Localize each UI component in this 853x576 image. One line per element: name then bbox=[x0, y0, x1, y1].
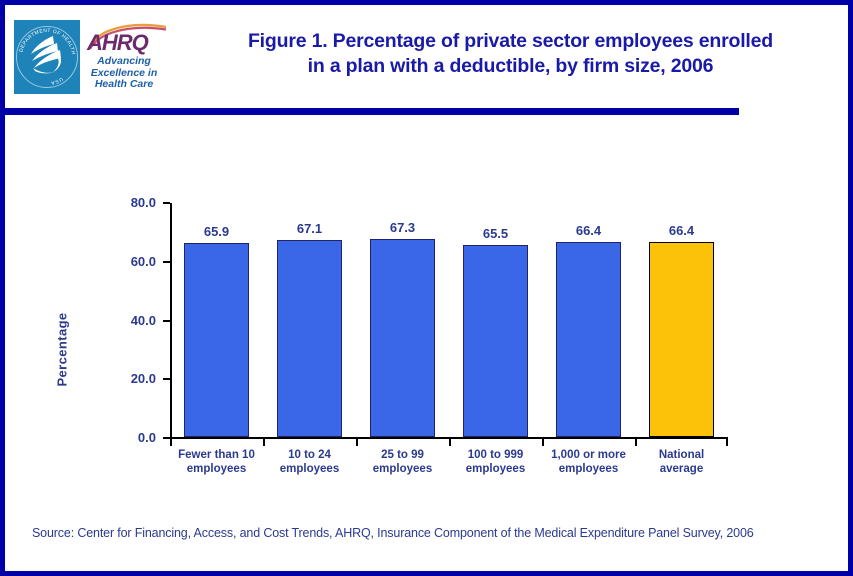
y-axis-title-text: Percentage bbox=[55, 312, 70, 386]
y-axis-tick bbox=[163, 320, 170, 322]
y-axis-tick-label: 40.0 bbox=[96, 313, 156, 328]
x-axis-category-line: employees bbox=[449, 462, 542, 476]
y-axis-tick bbox=[163, 378, 170, 380]
x-axis-tick bbox=[726, 439, 728, 446]
x-axis-tick bbox=[356, 439, 358, 446]
x-axis-category-line: average bbox=[635, 462, 728, 476]
bar-column[interactable]: 67.1 bbox=[277, 240, 342, 437]
bar[interactable] bbox=[277, 240, 342, 437]
bar-column[interactable]: 67.3 bbox=[370, 239, 435, 437]
y-axis-tick-label: 60.0 bbox=[96, 254, 156, 269]
y-axis-tick-label: 20.0 bbox=[96, 371, 156, 386]
y-axis-tick bbox=[163, 437, 170, 439]
bar[interactable] bbox=[184, 243, 249, 437]
x-axis-category-line: 100 to 999 bbox=[449, 448, 542, 462]
plot-area: 0.020.040.060.080.0 65.967.167.365.566.4… bbox=[170, 203, 728, 438]
x-axis-category-line: 25 to 99 bbox=[356, 448, 449, 462]
ahrq-tagline-line3: Health Care bbox=[80, 79, 168, 91]
x-axis-category-line: Fewer than 10 bbox=[170, 448, 263, 462]
page-title: Figure 1. Percentage of private sector e… bbox=[183, 29, 838, 79]
bar-column[interactable]: 65.9 bbox=[184, 243, 249, 437]
x-axis-category-line: National bbox=[635, 448, 728, 462]
bar-value-label: 66.4 bbox=[669, 223, 694, 238]
ahrq-letters-icon: AHRQ bbox=[85, 29, 169, 55]
x-axis-category-line: employees bbox=[170, 462, 263, 476]
ahrq-wordmark-block: AHRQ Advancing Excellence in Health Care bbox=[80, 20, 170, 94]
bar-value-label: 67.3 bbox=[390, 220, 415, 235]
x-axis-tick bbox=[170, 439, 172, 446]
bar-value-label: 67.1 bbox=[297, 221, 322, 236]
x-axis-category-line: employees bbox=[263, 462, 356, 476]
ahrq-tagline-line1: Advancing bbox=[80, 56, 168, 68]
bar-value-label: 66.4 bbox=[576, 223, 601, 238]
x-axis-tick bbox=[449, 439, 451, 446]
bar[interactable] bbox=[556, 242, 621, 437]
x-axis-category-label: Nationalaverage bbox=[635, 448, 728, 476]
x-axis-category-line: employees bbox=[542, 462, 635, 476]
x-axis-category-label: Fewer than 10employees bbox=[170, 448, 263, 476]
svg-text:AHRQ: AHRQ bbox=[86, 30, 149, 55]
x-axis-category-line: 10 to 24 bbox=[263, 448, 356, 462]
bar[interactable] bbox=[370, 239, 435, 437]
source-note: Source: Center for Financing, Access, an… bbox=[32, 526, 754, 540]
figure-header: DEPARTMENT OF HEALTH & HUMAN SE USA bbox=[5, 5, 848, 103]
x-axis-category-label: 1,000 or moreemployees bbox=[542, 448, 635, 476]
bar-column[interactable]: 65.5 bbox=[463, 245, 528, 437]
bar-value-label: 65.5 bbox=[483, 226, 508, 241]
bar-column[interactable]: 66.4 bbox=[556, 242, 621, 437]
page-title-line2: in a plan with a deductible, by firm siz… bbox=[183, 54, 838, 79]
bar-value-label: 65.9 bbox=[204, 224, 229, 239]
x-axis-category-label: 100 to 999employees bbox=[449, 448, 542, 476]
x-axis-tick bbox=[542, 439, 544, 446]
ahrq-logo: DEPARTMENT OF HEALTH & HUMAN SE USA bbox=[13, 19, 171, 95]
figure-page: DEPARTMENT OF HEALTH & HUMAN SE USA bbox=[0, 0, 853, 576]
ahrq-tagline: Advancing Excellence in Health Care bbox=[80, 56, 168, 91]
page-title-line1: Figure 1. Percentage of private sector e… bbox=[183, 29, 838, 54]
x-axis-category-line: 1,000 or more bbox=[542, 448, 635, 462]
y-axis-tick bbox=[163, 202, 170, 204]
hhs-seal-icon: DEPARTMENT OF HEALTH & HUMAN SE USA bbox=[14, 20, 80, 94]
y-axis-title: Percentage bbox=[52, 289, 72, 409]
x-axis-tick bbox=[635, 439, 637, 446]
y-axis-tick-label: 0.0 bbox=[96, 430, 156, 445]
header-divider bbox=[5, 108, 739, 115]
y-axis-tick bbox=[163, 261, 170, 263]
bar[interactable] bbox=[649, 242, 714, 437]
hhs-eagle-icon bbox=[23, 30, 71, 80]
bar-column[interactable]: 66.4 bbox=[649, 242, 714, 437]
bar-chart: Percentage 0.020.040.060.080.0 65.967.16… bbox=[5, 123, 848, 513]
bar-series: 65.967.167.365.566.466.4 bbox=[170, 203, 728, 438]
x-axis-category-line: employees bbox=[356, 462, 449, 476]
x-axis-category-label: 25 to 99employees bbox=[356, 448, 449, 476]
x-axis-category-label: 10 to 24employees bbox=[263, 448, 356, 476]
y-axis-tick-label: 80.0 bbox=[96, 195, 156, 210]
x-axis-tick bbox=[263, 439, 265, 446]
bar[interactable] bbox=[463, 245, 528, 437]
